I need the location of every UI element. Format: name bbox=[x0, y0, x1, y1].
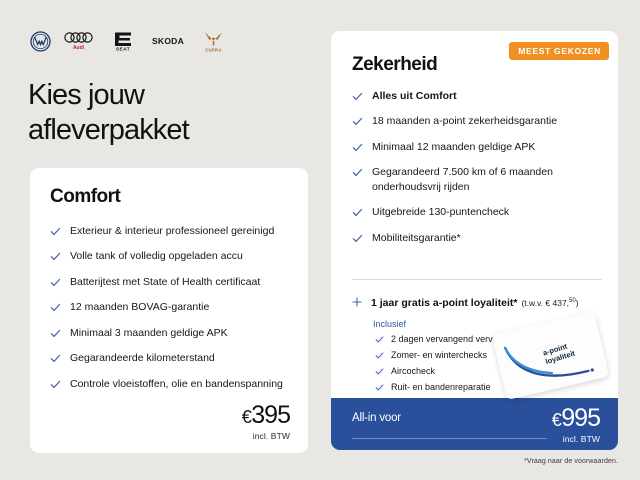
check-icon bbox=[50, 251, 61, 262]
loyalty-value-suffix: ) bbox=[576, 298, 579, 308]
comfort-title: Comfort bbox=[50, 186, 290, 208]
volkswagen-logo bbox=[30, 31, 51, 52]
comfort-price-note: incl. BTW bbox=[242, 431, 290, 441]
list-item: Alles uit Comfort bbox=[352, 89, 602, 103]
check-icon bbox=[375, 351, 384, 360]
list-item: Minimaal 3 maanden geldige APK bbox=[50, 326, 290, 340]
check-icon bbox=[352, 207, 363, 218]
price-value: 995 bbox=[561, 404, 600, 432]
check-icon bbox=[50, 379, 61, 390]
loyalty-highlight-row: 1 jaar gratis a-point loyaliteit*(t.w.v.… bbox=[352, 293, 607, 311]
list-item: Gegarandeerd 7.500 km of 6 maanden onder… bbox=[352, 165, 602, 194]
list-item: Exterieur & interieur professioneel gere… bbox=[50, 224, 290, 238]
currency-symbol: € bbox=[242, 407, 252, 427]
allin-price-bar[interactable]: All-in voor €995 incl. BTW bbox=[331, 398, 618, 450]
price-value: 395 bbox=[251, 401, 290, 429]
loyalty-value-prefix: (t.w.v. € 437, bbox=[521, 298, 569, 308]
currency-symbol: € bbox=[552, 410, 562, 430]
check-icon bbox=[50, 353, 61, 364]
list-item: 12 maanden BOVAG-garantie bbox=[50, 300, 290, 314]
check-icon bbox=[50, 226, 61, 237]
svg-text:CUPRA: CUPRA bbox=[205, 47, 222, 52]
list-item: Uitgebreide 130-puntencheck bbox=[352, 205, 602, 219]
status-badge: MEEST GEKOZEN bbox=[509, 42, 609, 60]
check-icon bbox=[50, 328, 61, 339]
feature-text: 12 maanden BOVAG-garantie bbox=[70, 300, 209, 314]
skoda-logo: SKODA bbox=[149, 34, 187, 48]
list-item: Volle tank of volledig opgeladen accu bbox=[50, 249, 290, 263]
feature-text: Batterijtest met State of Health certifi… bbox=[70, 275, 260, 289]
allin-label: All-in voor bbox=[352, 412, 401, 424]
left-column: Audi SEAT SKODA CUPRA Kies jouw afleverp… bbox=[0, 0, 320, 480]
section-divider bbox=[352, 279, 602, 280]
comfort-price: €395 bbox=[242, 403, 290, 428]
comfort-price-block: €395 incl. BTW bbox=[242, 403, 290, 441]
feature-text: Minimaal 12 maanden geldige APK bbox=[372, 140, 535, 154]
list-item: Batterijtest met State of Health certifi… bbox=[50, 275, 290, 289]
check-icon bbox=[352, 167, 363, 178]
feature-text: Uitgebreide 130-puntencheck bbox=[372, 205, 509, 219]
loyalty-headline: 1 jaar gratis a-point loyaliteit* bbox=[371, 297, 517, 309]
list-item: 18 maanden a-point zekerheidsgarantie bbox=[352, 114, 602, 128]
page-title: Kies jouw afleverpakket bbox=[28, 78, 308, 149]
check-icon bbox=[375, 335, 384, 344]
cupra-logo: CUPRA bbox=[200, 30, 227, 53]
sub-feature-text: 2 dagen vervangend vervoer bbox=[391, 334, 506, 344]
svg-text:SKODA: SKODA bbox=[152, 36, 184, 46]
feature-text: Minimaal 3 maanden geldige APK bbox=[70, 326, 228, 340]
audi-logo: Audi bbox=[64, 30, 98, 52]
svg-text:Audi: Audi bbox=[73, 45, 85, 51]
promo-page: Audi SEAT SKODA CUPRA Kies jouw afleverp… bbox=[0, 0, 640, 480]
svg-text:SEAT: SEAT bbox=[116, 47, 130, 53]
list-item: Mobiliteitsgarantie* bbox=[352, 231, 602, 245]
feature-text: Volle tank of volledig opgeladen accu bbox=[70, 249, 243, 263]
feature-text: Mobiliteitsgarantie* bbox=[372, 231, 461, 245]
zekerheid-title: Zekerheid bbox=[352, 54, 437, 76]
feature-text: Alles uit Comfort bbox=[372, 89, 457, 103]
feature-text: 18 maanden a-point zekerheidsgarantie bbox=[372, 114, 557, 128]
plus-icon bbox=[352, 297, 362, 307]
list-item: Gegarandeerde kilometerstand bbox=[50, 351, 290, 365]
headline-line-1: Kies jouw bbox=[28, 78, 308, 113]
feature-text: Gegarandeerd 7.500 km of 6 maanden onder… bbox=[372, 165, 602, 194]
sub-feature-text: Ruit- en bandenreparatie bbox=[391, 382, 491, 392]
allin-price: €995 bbox=[552, 406, 600, 431]
zekerheid-package-card[interactable]: MEEST GEKOZEN Zekerheid Alles uit Comfor… bbox=[331, 31, 618, 450]
loyalty-value: (t.w.v. € 437,50) bbox=[521, 298, 578, 308]
allin-price-block: €995 incl. BTW bbox=[552, 406, 600, 444]
check-icon bbox=[352, 142, 363, 153]
check-icon bbox=[50, 277, 61, 288]
sub-feature-text: Zomer- en winterchecks bbox=[391, 350, 487, 360]
check-icon bbox=[352, 233, 363, 244]
list-item: Minimaal 12 maanden geldige APK bbox=[352, 140, 602, 154]
comfort-package-card[interactable]: Comfort Exterieur & interieur profession… bbox=[30, 168, 308, 453]
feature-text: Gegarandeerde kilometerstand bbox=[70, 351, 215, 365]
footnote: *Vraag naar de voorwaarden. bbox=[524, 458, 618, 465]
check-icon bbox=[352, 91, 363, 102]
seat-logo: SEAT bbox=[111, 30, 136, 52]
check-icon bbox=[375, 383, 384, 392]
feature-text: Exterieur & interieur professioneel gere… bbox=[70, 224, 274, 238]
allin-price-note: incl. BTW bbox=[552, 434, 600, 444]
brand-logo-bar: Audi SEAT SKODA CUPRA bbox=[30, 28, 227, 54]
loyalty-value-cents: 50 bbox=[569, 298, 576, 304]
feature-text: Controle vloeistoffen, olie en bandenspa… bbox=[70, 377, 283, 391]
zekerheid-feature-list: Alles uit Comfort 18 maanden a-point zek… bbox=[352, 89, 602, 256]
check-icon bbox=[50, 302, 61, 313]
sub-feature-text: Aircocheck bbox=[391, 366, 435, 376]
allin-rule bbox=[352, 438, 547, 439]
check-icon bbox=[375, 367, 384, 376]
inclusief-label: Inclusief bbox=[373, 319, 406, 329]
headline-line-2: afleverpakket bbox=[28, 113, 308, 148]
list-item: Controle vloeistoffen, olie en bandenspa… bbox=[50, 377, 290, 391]
comfort-feature-list: Exterieur & interieur professioneel gere… bbox=[50, 224, 290, 391]
check-icon bbox=[352, 116, 363, 127]
